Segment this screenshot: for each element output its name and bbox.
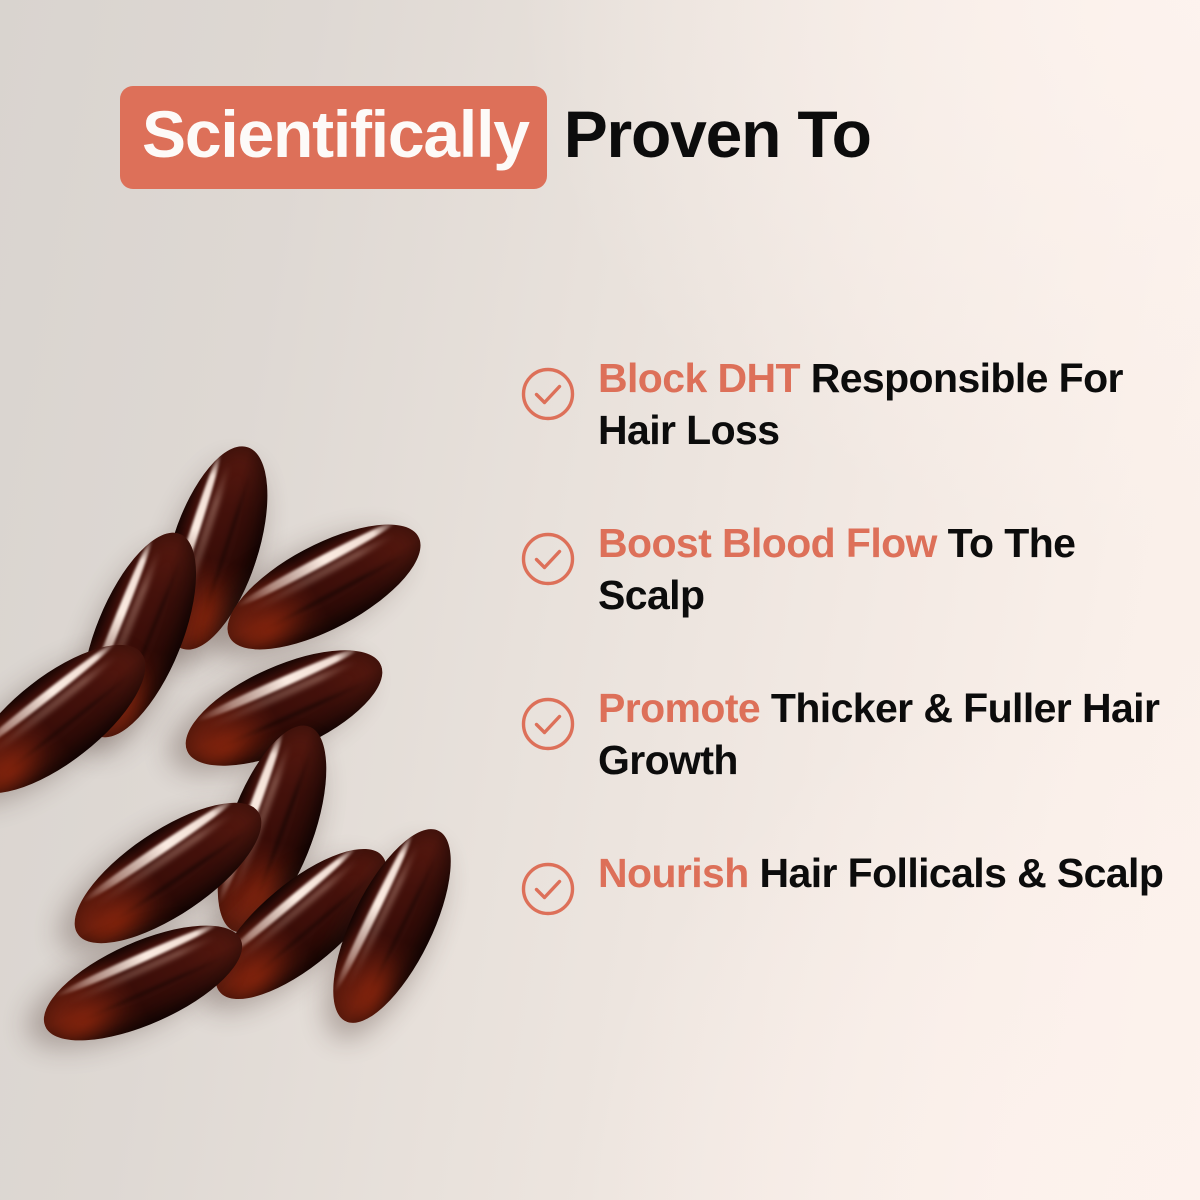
capsule-warm-glow (49, 984, 133, 1053)
list-item: Promote Thicker & Fuller Hair Growth (520, 682, 1180, 787)
benefit-text: Block DHT Responsible For Hair Loss (598, 352, 1180, 457)
check-circle-icon (520, 861, 576, 917)
headline-badge: Scientifically (120, 86, 547, 189)
benefit-highlight: Block DHT (598, 355, 800, 401)
softgel-capsules-photo (0, 420, 520, 940)
benefit-highlight: Boost Blood Flow (598, 520, 937, 566)
promo-poster: Scientifically Proven To Block DHT Respo… (0, 0, 1200, 1200)
benefit-highlight: Promote (598, 685, 760, 731)
check-circle-icon (520, 531, 576, 587)
headline-tail: Proven To (547, 102, 871, 173)
benefit-text: Nourish Hair Follicals & Scalp (598, 847, 1163, 899)
capsule-warm-glow (232, 590, 317, 663)
list-item: Nourish Hair Follicals & Scalp (520, 847, 1180, 917)
benefit-text: Promote Thicker & Fuller Hair Growth (598, 682, 1180, 787)
benefit-highlight: Nourish (598, 850, 749, 896)
page-title: Scientifically Proven To (120, 86, 871, 189)
list-item: Boost Blood Flow To The Scalp (520, 517, 1180, 622)
capsule-warm-glow (341, 945, 410, 1028)
benefit-text: Boost Blood Flow To The Scalp (598, 517, 1180, 622)
benefit-rest: Hair Follicals & Scalp (749, 850, 1164, 896)
list-item: Block DHT Responsible For Hair Loss (520, 352, 1180, 457)
check-circle-icon (520, 696, 576, 752)
check-circle-icon (520, 366, 576, 422)
benefits-list: Block DHT Responsible For Hair Loss Boos… (520, 352, 1180, 917)
